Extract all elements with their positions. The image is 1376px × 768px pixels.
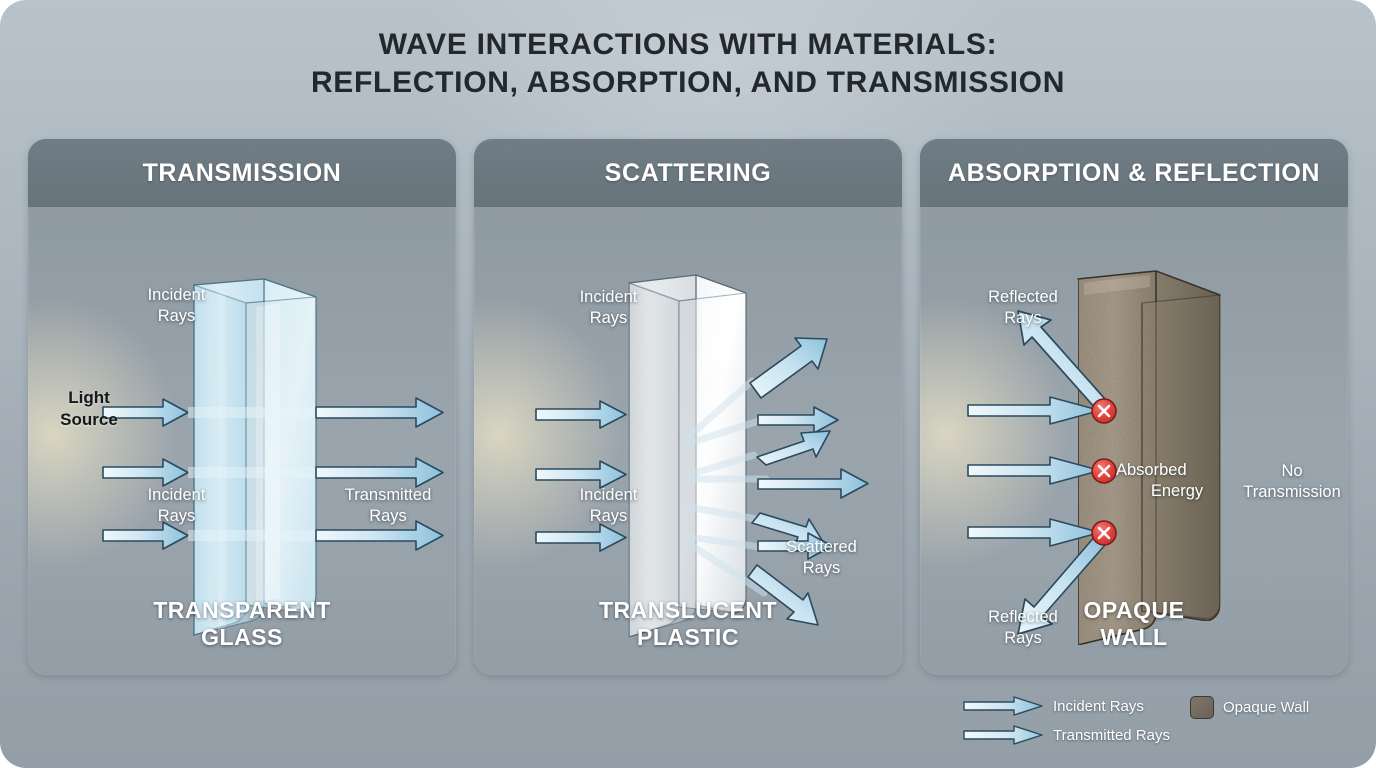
arrow-outline-icon (962, 725, 1044, 745)
label-transmitted-rays: Transmitted Rays (318, 485, 456, 528)
transparent-glass-slab (194, 279, 316, 635)
panel-header-scattering: SCATTERING (474, 139, 902, 207)
label-incident-rays-bottom: Incident Rays (546, 485, 671, 528)
label-no-transmission: No Transmission (1232, 461, 1348, 504)
absorbed-marker-3 (1092, 521, 1116, 545)
absorbed-marker-1 (1092, 399, 1116, 423)
label-incident-rays-top: Incident Rays (114, 285, 239, 328)
legend: Incident Rays Transmitted Rays Opaque Wa… (962, 692, 1362, 754)
caption-transparent-glass: TRANSPARENT GLASS (28, 597, 456, 651)
caption-translucent-plastic: TRANSLUCENT PLASTIC (474, 597, 902, 651)
scattered-ray-3 (757, 431, 830, 465)
label-absorbed-energy: Absorbed Energy (1116, 460, 1238, 503)
panel-transmission[interactable]: TRANSMISSION (28, 139, 456, 675)
scattered-ray-2 (758, 407, 838, 433)
title-line-2: REFLECTION, ABSORPTION, AND TRANSMISSION (0, 64, 1376, 102)
opaque-wall-block (1078, 271, 1220, 645)
title-line-1: WAVE INTERACTIONS WITH MATERIALS: (0, 26, 1376, 64)
legend-item-opaque-wall[interactable]: Opaque Wall (1190, 696, 1309, 719)
panel-header-absorption-reflection: ABSORPTION & REFLECTION (920, 139, 1348, 207)
arrow-filled-icon (962, 696, 1044, 716)
scattered-ray-4 (758, 469, 868, 498)
panel-header-label: ABSORPTION & REFLECTION (948, 159, 1320, 188)
scattered-ray-1 (750, 338, 827, 398)
incident-ray-1 (536, 401, 626, 428)
legend-label: Incident Rays (1053, 698, 1144, 715)
label-scattered-rays: Scattered Rays (754, 537, 889, 580)
legend-item-transmitted-rays[interactable]: Transmitted Rays (962, 725, 1170, 745)
incident-ray-2 (536, 461, 626, 488)
panel-header-transmission: TRANSMISSION (28, 139, 456, 207)
scattered-ray-group (748, 338, 868, 625)
absorbed-marker-2 (1092, 459, 1116, 483)
incident-ray-group (536, 401, 626, 551)
incident-ray-2 (103, 459, 188, 486)
label-incident-rays-bottom: Incident Rays (114, 485, 239, 528)
legend-item-incident-rays[interactable]: Incident Rays (962, 696, 1144, 716)
panel-header-label: TRANSMISSION (143, 159, 342, 188)
panel-header-label: SCATTERING (605, 159, 772, 188)
transmitted-ray-2 (316, 458, 443, 487)
diagram-canvas: WAVE INTERACTIONS WITH MATERIALS: REFLEC… (0, 0, 1376, 768)
incident-ray-3 (536, 524, 626, 551)
label-reflected-rays-top: Reflected Rays (956, 287, 1090, 330)
page-title: WAVE INTERACTIONS WITH MATERIALS: REFLEC… (0, 26, 1376, 103)
legend-label: Opaque Wall (1223, 699, 1309, 716)
opaque-wall-swatch-icon (1190, 696, 1214, 719)
label-light-source: Light Source (34, 387, 144, 431)
caption-opaque-wall: OPAQUE WALL (920, 597, 1348, 651)
panel-scattering[interactable]: SCATTERING (474, 139, 902, 675)
panel-absorption-reflection[interactable]: ABSORPTION & REFLECTION (920, 139, 1348, 675)
label-incident-rays-top: Incident Rays (546, 287, 671, 330)
transmitted-ray-1 (316, 398, 443, 427)
legend-label: Transmitted Rays (1053, 727, 1170, 744)
